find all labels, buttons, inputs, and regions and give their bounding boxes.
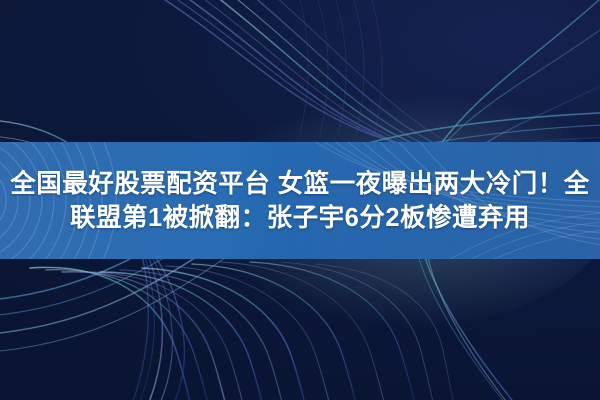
title-banner: 全国最好股票配资平台 女篮一夜曝出两大冷门！全 联盟第1被掀翻：张子宇6分2板惨… [0, 142, 600, 259]
banner-title-line-1: 全国最好股票配资平台 女篮一夜曝出两大冷门！全 [10, 169, 590, 199]
banner-image: 全国最好股票配资平台 女篮一夜曝出两大冷门！全 联盟第1被掀翻：张子宇6分2板惨… [0, 0, 600, 400]
banner-text-block: 全国最好股票配资平台 女篮一夜曝出两大冷门！全 联盟第1被掀翻：张子宇6分2板惨… [0, 142, 600, 259]
banner-title-line-2: 联盟第1被掀翻：张子宇6分2板惨遭弃用 [70, 203, 530, 233]
